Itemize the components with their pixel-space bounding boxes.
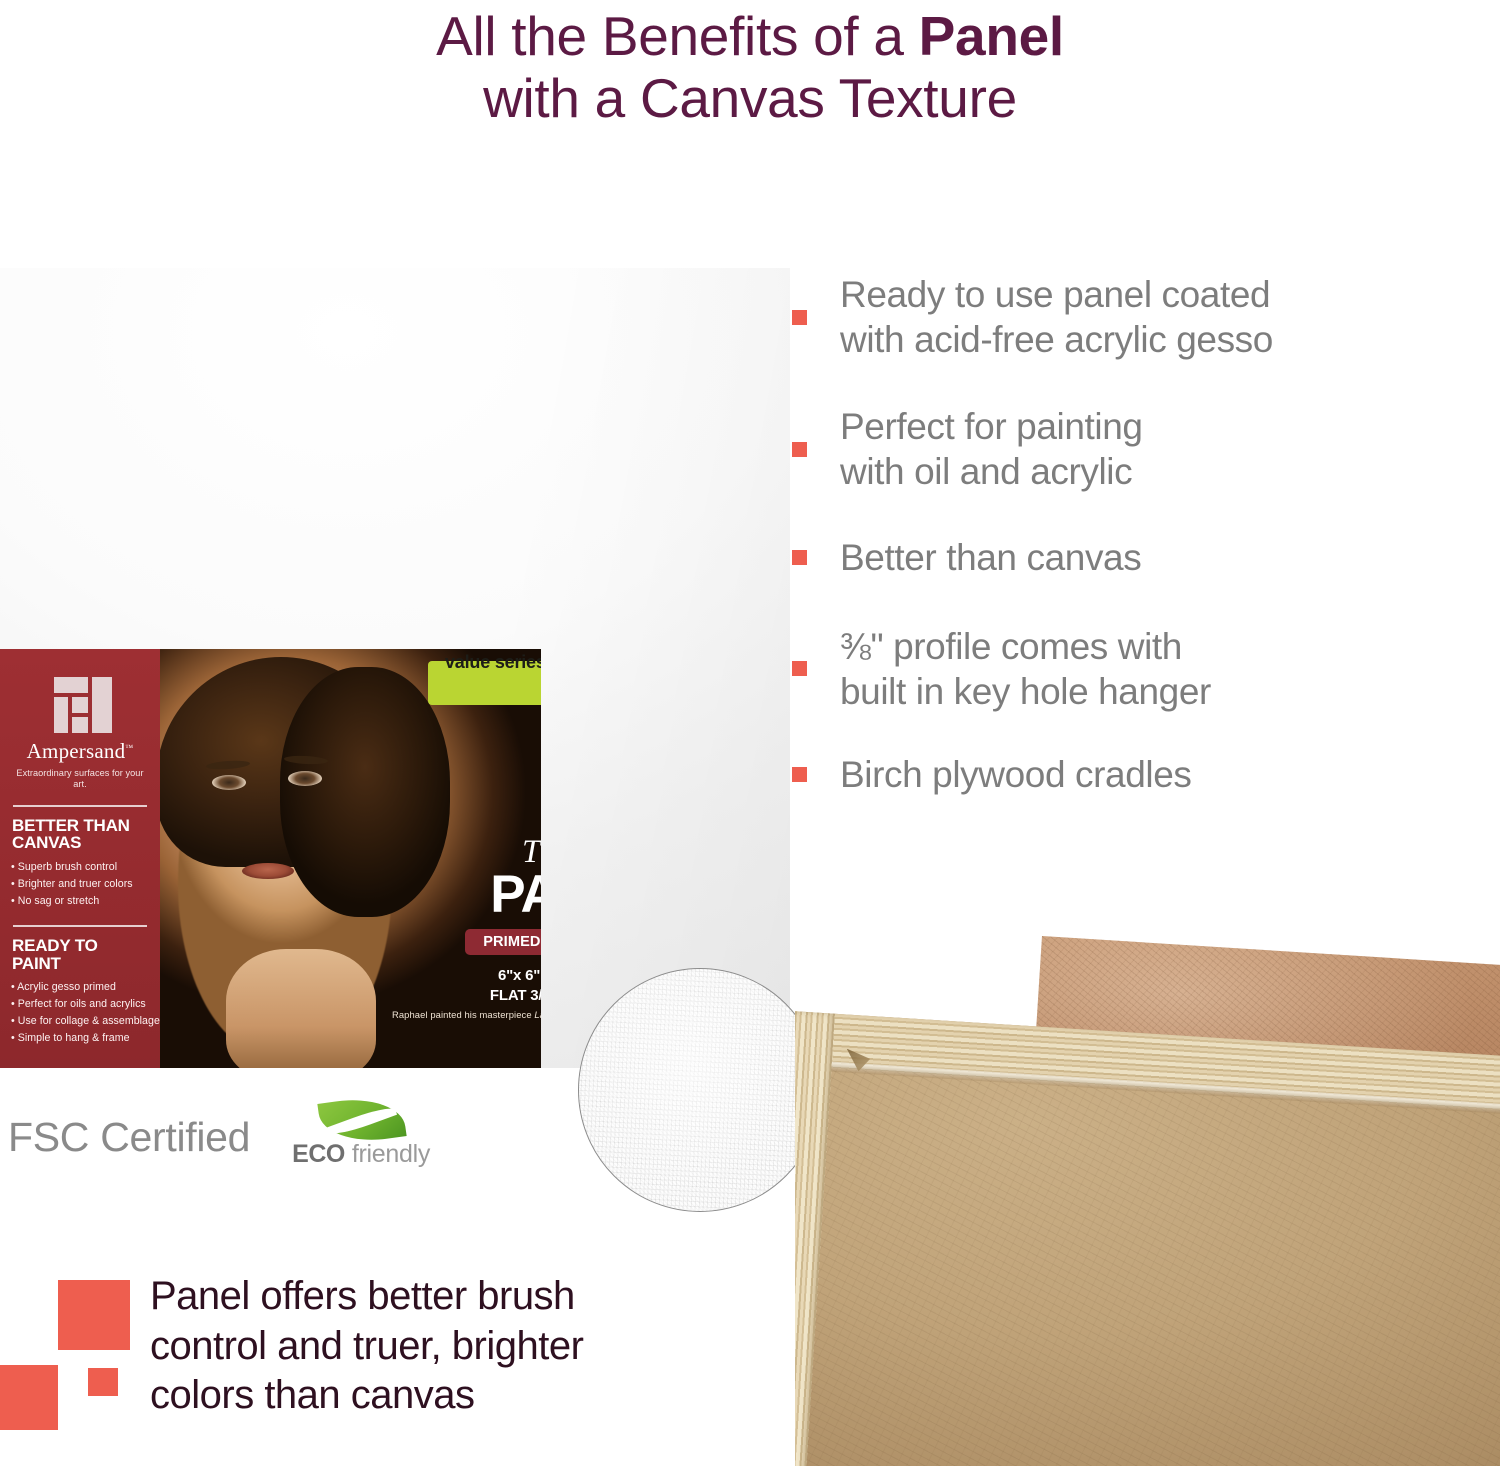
- list-item: ⅜" profile comes with built in key hole …: [792, 624, 1492, 714]
- package-section1-title-l1: BETTER THAN: [12, 817, 149, 834]
- benefit-line-2: with acid-free acrylic gesso: [840, 319, 1273, 360]
- size-imperial: 6"x 6": [498, 967, 540, 984]
- infographic-root: All the Benefits of a Panel with a Canva…: [0, 0, 1500, 1466]
- headline-line-1: All the Benefits of a Panel: [0, 6, 1500, 68]
- package-section1-list: • Superb brush control • Brighter and tr…: [11, 859, 149, 910]
- size-line-2: FLAT 3/8" (9 mm) PROFILE: [465, 986, 541, 1006]
- package-title-block: The artist PANEL™ PRIMED CANVAS TEXTURE …: [465, 834, 541, 1006]
- profile-thickness: FLAT 3/8": [490, 987, 541, 1004]
- bullet-square-icon: [792, 661, 807, 676]
- eco-label-bold: ECO: [292, 1140, 345, 1168]
- portrait-hair-side: [280, 667, 450, 917]
- benefits-list: Ready to use panel coated with acid-free…: [792, 272, 1492, 825]
- portrait-lips: [242, 863, 294, 879]
- bullet-square-icon: [792, 550, 807, 565]
- list-item: • Perfect for oils and acrylics: [11, 996, 149, 1013]
- list-item: • Simple to hang & frame: [11, 1030, 149, 1047]
- mark-square-small: [88, 1368, 118, 1396]
- title-word-panel-text: PANEL: [490, 865, 541, 924]
- list-item: • Acrylic gesso primed: [11, 979, 149, 996]
- value-series-banner: value series wood panel: [428, 661, 541, 705]
- list-item: • Use for collage & assemblage: [11, 1013, 149, 1030]
- brand-mark-icon: [0, 1280, 155, 1430]
- list-item: • Superb brush control: [11, 859, 149, 876]
- eco-text: ECOfriendly: [292, 1140, 430, 1169]
- cradled-panel: [795, 1010, 1500, 1466]
- list-item: • No sag or stretch: [11, 893, 149, 910]
- caption-text: Panel offers better brush control and tr…: [150, 1272, 770, 1421]
- brand-name-text: Ampersand: [27, 739, 126, 763]
- benefit-line-2: built in key hole hanger: [840, 671, 1211, 712]
- product-photo: Ampersand™ Extraordinary surfaces for yo…: [0, 268, 790, 1068]
- package-section2-list: • Acrylic gesso primed • Perfect for oil…: [11, 979, 149, 1048]
- portrait-eye-left: [212, 775, 246, 790]
- brand-tagline: Extraordinary surfaces for your art.: [11, 768, 149, 790]
- benefit-line-1: ⅜" profile comes with: [840, 626, 1182, 667]
- headline-line-2: with a Canvas Texture: [0, 68, 1500, 130]
- benefit-line-2: with oil and acrylic: [840, 451, 1132, 492]
- certification-row: FSC Certified ECOfriendly: [8, 1098, 420, 1176]
- list-item: Ready to use panel coated with acid-free…: [792, 272, 1492, 362]
- bullet-square-icon: [792, 442, 807, 457]
- package-section2-title: READY TO PAINT: [12, 937, 149, 972]
- package-subtitle-badge: PRIMED CANVAS TEXTURE: [465, 929, 541, 955]
- product-package-label: Ampersand™ Extraordinary surfaces for yo…: [0, 649, 541, 1068]
- page-title: All the Benefits of a Panel with a Canva…: [0, 6, 1500, 129]
- package-artwork: value series wood panel The artist PANEL…: [160, 649, 541, 1068]
- portrait-eye-right: [288, 771, 322, 786]
- headline-text-a: All the Benefits of a: [436, 5, 919, 67]
- caption-line-1: Panel offers better brush: [150, 1274, 575, 1318]
- footnote-part-a: Raphael painted his masterpiece: [392, 1009, 534, 1020]
- eco-label-light: friendly: [352, 1140, 430, 1168]
- package-size-info: 6"x 6" (15.2 cm x 15.2 cm) FLAT 3/8" (9 …: [465, 966, 541, 1007]
- caption-line-3: colors than canvas: [150, 1373, 475, 1417]
- bullet-square-icon: [792, 767, 807, 782]
- list-item: • Brighter and truer colors: [11, 876, 149, 893]
- package-sidebar: Ampersand™ Extraordinary surfaces for yo…: [0, 649, 160, 1068]
- size-line-1: 6"x 6" (15.2 cm x 15.2 cm): [465, 966, 541, 986]
- benefit-text: Ready to use panel coated with acid-free…: [840, 272, 1273, 362]
- divider-2: [13, 925, 147, 927]
- package-title-line1: The artist: [465, 834, 541, 869]
- benefit-text: Perfect for painting with oil and acryli…: [840, 404, 1143, 494]
- brand-tm: ™: [125, 743, 133, 752]
- mark-square-large: [58, 1280, 130, 1350]
- benefit-text: ⅜" profile comes with built in key hole …: [840, 624, 1211, 714]
- ampersand-logo-icon: [48, 677, 112, 733]
- panel-back-photo: [795, 918, 1500, 1466]
- banner-label-series: value series: [445, 652, 541, 673]
- list-item: Perfect for painting with oil and acryli…: [792, 404, 1492, 494]
- footnote-artwork-title: La Fornarina: [534, 1009, 541, 1020]
- mark-square-medium: [0, 1365, 58, 1430]
- benefit-line-1: Perfect for painting: [840, 406, 1143, 447]
- portrait-neck: [226, 949, 376, 1068]
- caption-line-2: control and truer, brighter: [150, 1324, 583, 1368]
- list-item: Better than canvas: [792, 535, 1492, 580]
- benefit-line-1: Ready to use panel coated: [840, 274, 1270, 315]
- brand-name: Ampersand™: [11, 741, 149, 762]
- benefit-text: Better than canvas: [840, 535, 1141, 580]
- divider-1: [13, 805, 147, 807]
- fsc-label: FSC Certified: [8, 1114, 250, 1161]
- package-section1-title: BETTER THAN CANVAS: [12, 817, 149, 852]
- benefit-text: Birch plywood cradles: [840, 752, 1191, 797]
- list-item: Birch plywood cradles: [792, 752, 1492, 797]
- bullet-square-icon: [792, 310, 807, 325]
- package-footnote: Raphael painted his masterpiece La Forna…: [392, 1009, 541, 1020]
- headline-text-bold: Panel: [919, 5, 1064, 67]
- eco-friendly-badge: ECOfriendly: [292, 1098, 420, 1176]
- canvas-texture-detail-circle: [578, 968, 822, 1212]
- title-word-panel: PANEL™: [465, 871, 541, 920]
- package-section1-title-l2: CANVAS: [12, 834, 149, 851]
